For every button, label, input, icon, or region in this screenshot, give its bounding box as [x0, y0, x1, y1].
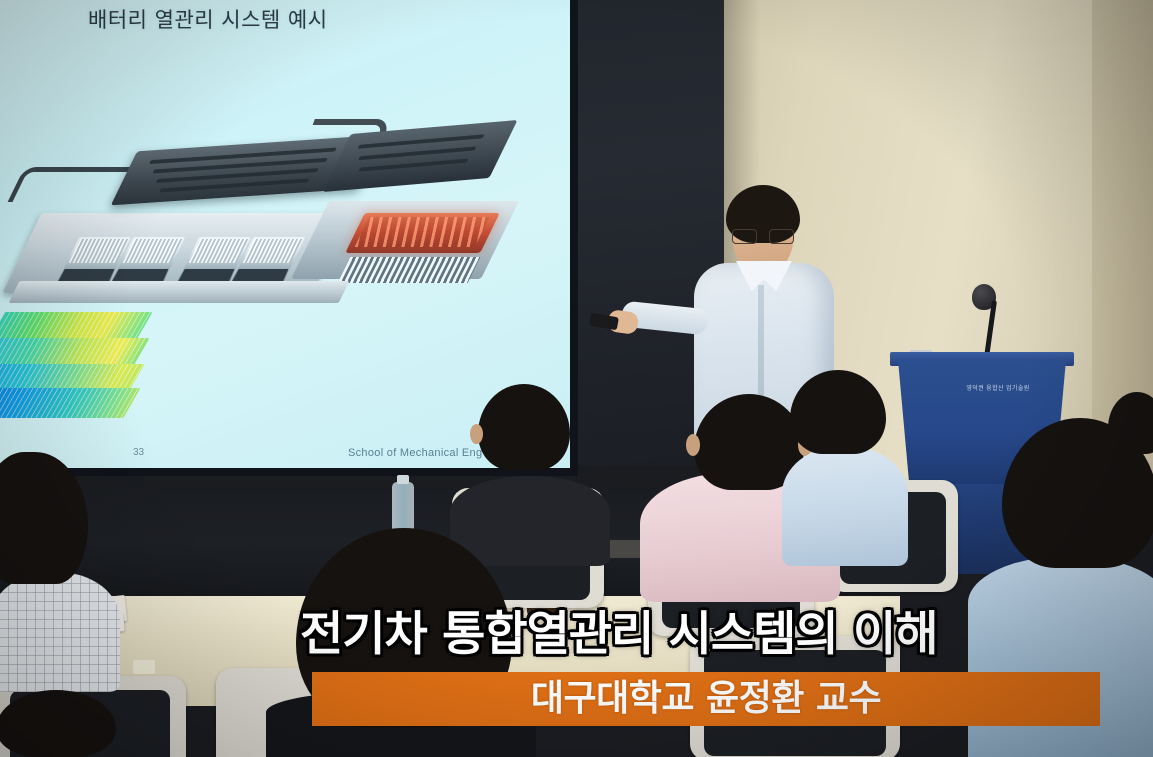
slide-footer-text: School of Mechanical Eng	[348, 447, 482, 459]
pack-base-rail	[9, 281, 350, 303]
projected-slide: 배터리 열관리 시스템 예시	[0, 0, 570, 468]
caption-title: 전기차 통합열관리 시스템의 이해	[300, 595, 1110, 664]
cooling-fin-array	[338, 257, 481, 283]
caption-overlay: 전기차 통합열관리 시스템의 이해 대구대학교 윤정환 교수	[0, 592, 1153, 738]
podium-label: 영덕권 융합산 업기술원	[957, 383, 1039, 392]
right-wall	[1092, 0, 1153, 430]
ev-battery-pack-photo	[10, 105, 490, 325]
caption-subtitle: 대구대학교 윤정환 교수	[312, 672, 1100, 726]
red-coolant-lines	[355, 217, 490, 247]
video-frame: 배터리 열관리 시스템 예시	[0, 0, 1153, 757]
slide-title: 배터리 열관리 시스템 예시	[88, 4, 328, 34]
cfd-thermal-simulation	[0, 312, 176, 422]
cfd-contour-row	[0, 388, 141, 418]
glasses-icon	[732, 229, 794, 242]
slide-page-number: 33	[133, 447, 144, 458]
